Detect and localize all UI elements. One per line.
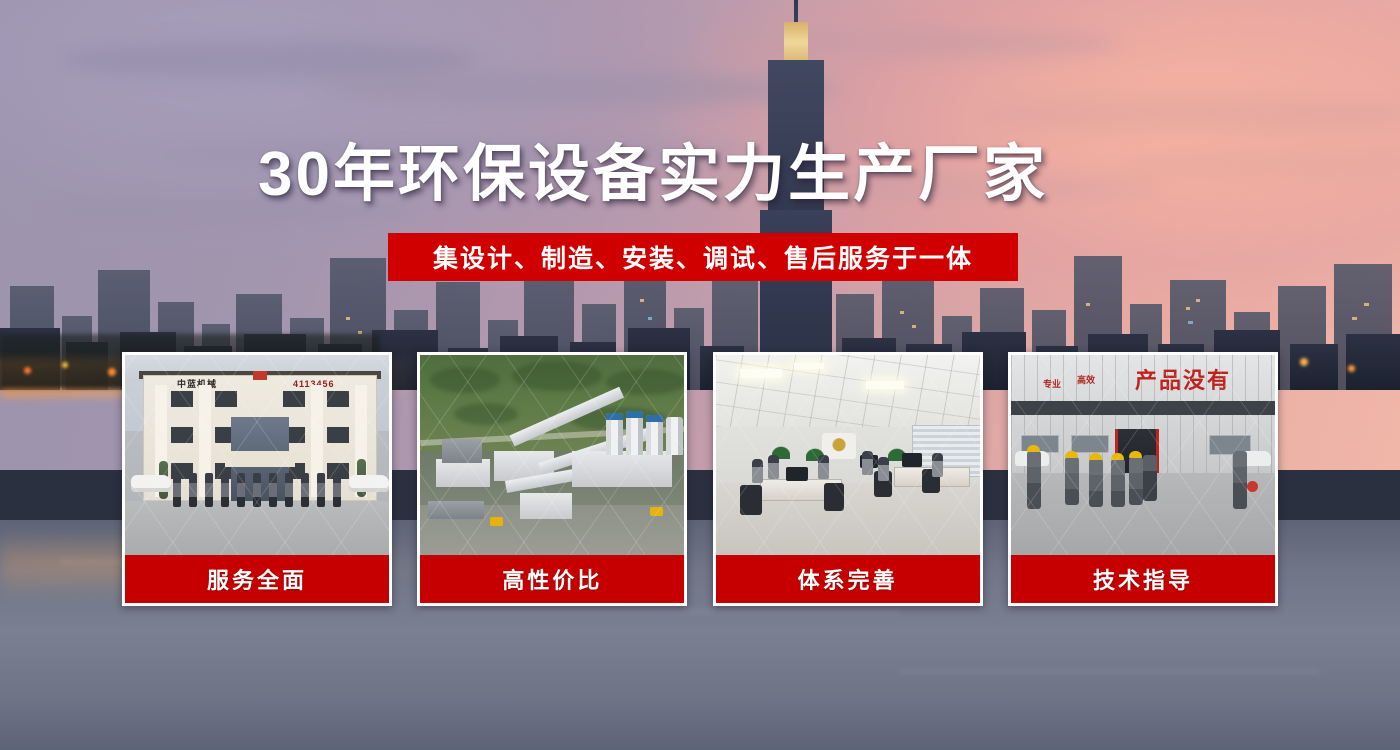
facade-window bbox=[283, 391, 305, 407]
safety-helmet bbox=[1027, 445, 1040, 452]
facade-window bbox=[171, 427, 193, 443]
staff-person bbox=[173, 473, 181, 507]
office-worker bbox=[768, 455, 779, 479]
plant-building bbox=[572, 451, 672, 487]
worker bbox=[1143, 455, 1157, 501]
staff-person bbox=[221, 473, 229, 507]
factory-wall-band bbox=[1011, 401, 1275, 415]
staff-person bbox=[205, 473, 213, 507]
card-caption-text: 服务全面 bbox=[207, 563, 307, 595]
monitor bbox=[902, 453, 922, 467]
card-caption-text: 高性价比 bbox=[502, 563, 602, 595]
staff-person bbox=[285, 473, 293, 507]
window-light bbox=[912, 325, 916, 328]
ceiling-light bbox=[740, 369, 782, 378]
silo-top bbox=[646, 415, 663, 422]
ceiling-grid bbox=[716, 355, 980, 427]
window-light bbox=[640, 299, 644, 302]
silo-top bbox=[626, 411, 643, 418]
office-interior-staff-photo bbox=[716, 355, 980, 555]
feature-card-row: 中蓝机械 4113456 bbox=[122, 352, 1278, 606]
excavator bbox=[650, 507, 663, 516]
building-phone-text: 4113456 bbox=[293, 379, 383, 390]
building bbox=[1346, 334, 1400, 390]
office-chair bbox=[740, 485, 762, 515]
plant-shed bbox=[520, 493, 572, 519]
bank-light bbox=[108, 368, 116, 376]
company-headquarters-building-photo: 中蓝机械 4113456 bbox=[125, 355, 389, 555]
wall-slogan-small: 高效 bbox=[1077, 373, 1095, 386]
instructor bbox=[1233, 451, 1247, 509]
window-light bbox=[900, 311, 904, 314]
factory-window bbox=[1071, 435, 1109, 453]
safety-helmet bbox=[1111, 453, 1124, 460]
feature-card-service[interactable]: 中蓝机械 4113456 bbox=[122, 352, 392, 606]
facade-window bbox=[327, 427, 349, 443]
parked-car bbox=[349, 475, 389, 492]
bank-light bbox=[24, 367, 31, 374]
office-worker bbox=[752, 459, 763, 483]
worker bbox=[1129, 457, 1143, 505]
red-helmet-held bbox=[1247, 481, 1258, 492]
office-worker bbox=[862, 451, 873, 475]
window-light bbox=[346, 317, 350, 320]
courtyard-ground bbox=[125, 501, 389, 555]
feature-card-system[interactable]: 体系完善 bbox=[713, 352, 983, 606]
entrance-canopy bbox=[225, 451, 295, 467]
worker bbox=[1027, 451, 1041, 509]
bank-light bbox=[1348, 365, 1355, 372]
water-streak bbox=[900, 670, 1320, 673]
window-light bbox=[1364, 303, 1369, 306]
staff-person bbox=[269, 473, 277, 507]
worker bbox=[1111, 459, 1125, 507]
office-worker bbox=[932, 453, 943, 477]
staff-person bbox=[237, 473, 245, 507]
staff-person bbox=[253, 473, 261, 507]
workers-training-factory-photo: 产品没有 专业 高效 bbox=[1011, 355, 1275, 555]
foliage bbox=[454, 403, 518, 425]
worker bbox=[1089, 459, 1103, 507]
card-caption-text: 体系完善 bbox=[798, 563, 898, 595]
monitor bbox=[786, 467, 808, 481]
building-sign-text: 中蓝机械 bbox=[177, 379, 267, 390]
safety-helmet bbox=[1089, 453, 1102, 460]
card-caption-band: 服务全面 bbox=[125, 555, 389, 603]
card-caption-band: 技术指导 bbox=[1011, 555, 1275, 603]
aerial-production-plant-photo bbox=[420, 355, 684, 555]
facade-window bbox=[327, 391, 349, 407]
facade-window bbox=[171, 391, 193, 407]
page-title: 30年环保设备实力生产厂家 bbox=[258, 138, 1158, 212]
window-light bbox=[1086, 303, 1090, 306]
safety-helmet bbox=[1065, 451, 1078, 458]
office-chair bbox=[824, 483, 844, 511]
staff-person bbox=[301, 473, 309, 507]
card-caption-band: 高性价比 bbox=[420, 555, 684, 603]
window-light bbox=[1352, 317, 1357, 320]
feature-card-value[interactable]: 高性价比 bbox=[417, 352, 687, 606]
wall-slogan-small: 专业 bbox=[1043, 377, 1061, 390]
foliage bbox=[430, 367, 500, 393]
safety-helmet bbox=[1129, 451, 1142, 458]
ceiling-light bbox=[794, 363, 824, 369]
flag bbox=[253, 371, 267, 380]
subtitle-text: 集设计、制造、安装、调试、售后服务于一体 bbox=[433, 239, 973, 275]
silo-top bbox=[606, 413, 623, 420]
staff-person bbox=[189, 473, 197, 507]
staff-person bbox=[317, 473, 325, 507]
bank-light bbox=[1300, 358, 1308, 366]
window-light bbox=[1188, 321, 1193, 324]
window-light bbox=[1186, 307, 1190, 310]
parked-car bbox=[131, 475, 171, 492]
card-caption-text: 技术指导 bbox=[1093, 563, 1193, 595]
worker bbox=[1065, 457, 1079, 505]
foliage bbox=[512, 361, 602, 391]
window-light bbox=[648, 317, 652, 320]
subtitle-band: 集设计、制造、安装、调试、售后服务于一体 bbox=[388, 233, 1018, 281]
plant-building bbox=[436, 459, 490, 487]
silo bbox=[666, 417, 683, 455]
building bbox=[1290, 344, 1338, 390]
bank-light bbox=[62, 362, 68, 368]
window-light bbox=[1196, 299, 1200, 302]
wall-slogan-large: 产品没有 bbox=[1135, 363, 1231, 395]
ceiling-light bbox=[866, 381, 904, 389]
office-worker bbox=[878, 457, 889, 481]
tower-spire bbox=[794, 0, 798, 24]
plant-shed bbox=[428, 501, 484, 519]
plant-structure bbox=[442, 439, 482, 463]
staff-person bbox=[333, 473, 341, 507]
feature-card-guidance[interactable]: 产品没有 专业 高效 bbox=[1008, 352, 1278, 606]
card-caption-band: 体系完善 bbox=[716, 555, 980, 603]
office-worker bbox=[818, 455, 829, 479]
excavator bbox=[490, 517, 503, 526]
facade-window bbox=[215, 391, 237, 407]
promo-banner: 30年环保设备实力生产厂家 集设计、制造、安装、调试、售后服务于一体 中蓝机械 … bbox=[0, 0, 1400, 750]
